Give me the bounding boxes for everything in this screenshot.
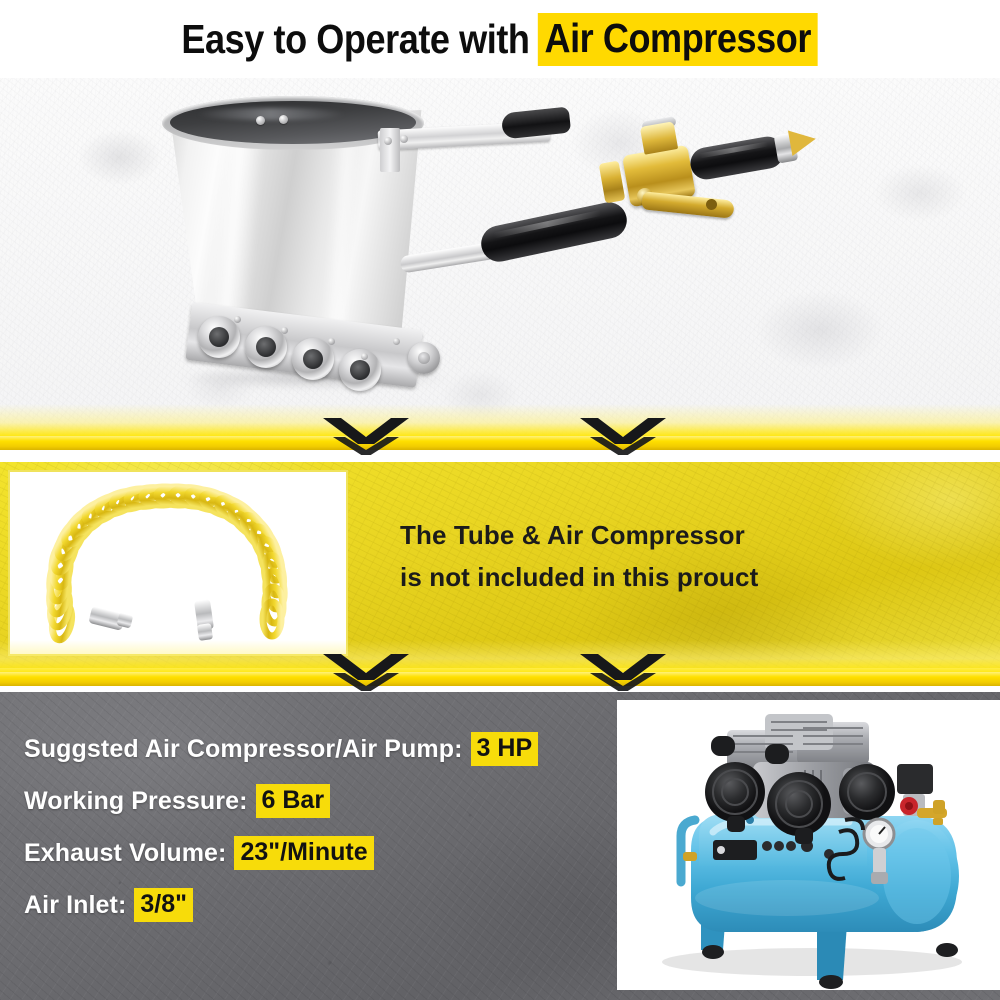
notice-line-2: is not included in this prouct — [400, 556, 960, 598]
valve-cap — [640, 121, 678, 154]
product-photo-panel — [0, 78, 1000, 438]
divider-glow — [0, 404, 1000, 438]
spec-label: Suggsted Air Compressor/Air Pump: — [24, 735, 463, 764]
rim-rivet — [256, 116, 265, 125]
divider-yellow-band — [0, 436, 1000, 450]
divider-white-edge — [0, 686, 1000, 692]
section-divider-2 — [0, 640, 1000, 698]
bracket-rivet — [400, 135, 408, 143]
chevron-down-icon — [323, 654, 409, 692]
body-screw — [393, 338, 400, 345]
header-banner: Easy to Operate with Air Compressor — [0, 0, 1000, 78]
spec-label: Working Pressure: — [24, 787, 248, 816]
hose-fitting-right — [194, 599, 214, 641]
chevron-upper — [323, 418, 409, 444]
rear-rubber-sleeve — [478, 199, 630, 265]
title-plain-text: Easy to Operate with — [182, 16, 538, 63]
spray-port — [339, 349, 381, 391]
port-screw — [234, 316, 241, 323]
stucco-sprayer-hopper-image — [150, 88, 830, 418]
hose-fitting-left — [88, 606, 133, 631]
handle-rubber-grip — [501, 107, 571, 140]
not-included-notice: The Tube & Air Compressor is not include… — [400, 514, 960, 598]
chevron-upper — [580, 654, 666, 680]
body-screw — [361, 353, 368, 360]
spray-port — [198, 316, 240, 358]
front-rubber-sleeve — [688, 134, 786, 182]
sleeve-highlight — [493, 210, 602, 239]
page-title: Easy to Operate with Air Compressor — [182, 13, 819, 66]
spec-row: Suggsted Air Compressor/Air Pump: 3 HP — [24, 732, 604, 766]
sleeve-highlight — [699, 141, 769, 158]
spec-row: Air Inlet: 3/8" — [24, 888, 604, 922]
hopper-interior-glint — [196, 108, 346, 120]
divider-glow — [0, 640, 1000, 674]
coiled-hose-illustration — [10, 472, 346, 654]
spec-value: 23"/Minute — [234, 836, 373, 870]
handle-bracket — [380, 128, 400, 172]
spec-value: 3/8" — [134, 888, 193, 922]
divider-white-edge — [0, 450, 1000, 456]
divider-yellow-band — [0, 672, 1000, 686]
spec-row: Exhaust Volume: 23"/Minute — [24, 836, 604, 870]
chevron-upper — [580, 418, 666, 444]
chevron-down-icon — [580, 654, 666, 692]
title-highlight-text: Air Compressor — [538, 13, 819, 66]
specifications-panel: Suggsted Air Compressor/Air Pump: 3 HP W… — [0, 692, 1000, 1000]
spec-value: 3 HP — [471, 732, 539, 766]
spec-label: Air Inlet: — [24, 891, 126, 920]
notice-line-1: The Tube & Air Compressor — [400, 514, 960, 556]
air-compressor-image — [617, 700, 1000, 990]
spec-row: Working Pressure: 6 Bar — [24, 784, 604, 818]
infographic-page: Easy to Operate with Air Compressor — [0, 0, 1000, 1000]
air-compressor-illustration — [617, 700, 1000, 990]
hopper-roller-wheel — [408, 342, 440, 374]
rim-rivet — [279, 115, 288, 124]
nozzle-tip — [788, 126, 818, 156]
spec-label: Exhaust Volume: — [24, 839, 226, 868]
brass-collar-rear — [599, 161, 626, 204]
port-screw — [328, 338, 335, 345]
specifications-list: Suggsted Air Compressor/Air Pump: 3 HP W… — [24, 732, 604, 940]
section-divider-1 — [0, 404, 1000, 462]
coiled-air-hose-image — [8, 470, 348, 656]
not-included-notice-panel: The Tube & Air Compressor is not include… — [0, 462, 1000, 668]
chevron-upper — [323, 654, 409, 680]
spec-value: 6 Bar — [256, 784, 331, 818]
port-screw — [281, 327, 288, 334]
valve-trigger-lever — [641, 191, 734, 219]
bracket-rivet — [384, 137, 392, 145]
chevron-down-icon — [323, 418, 409, 456]
spray-port — [292, 338, 334, 380]
chevron-down-icon — [580, 418, 666, 456]
